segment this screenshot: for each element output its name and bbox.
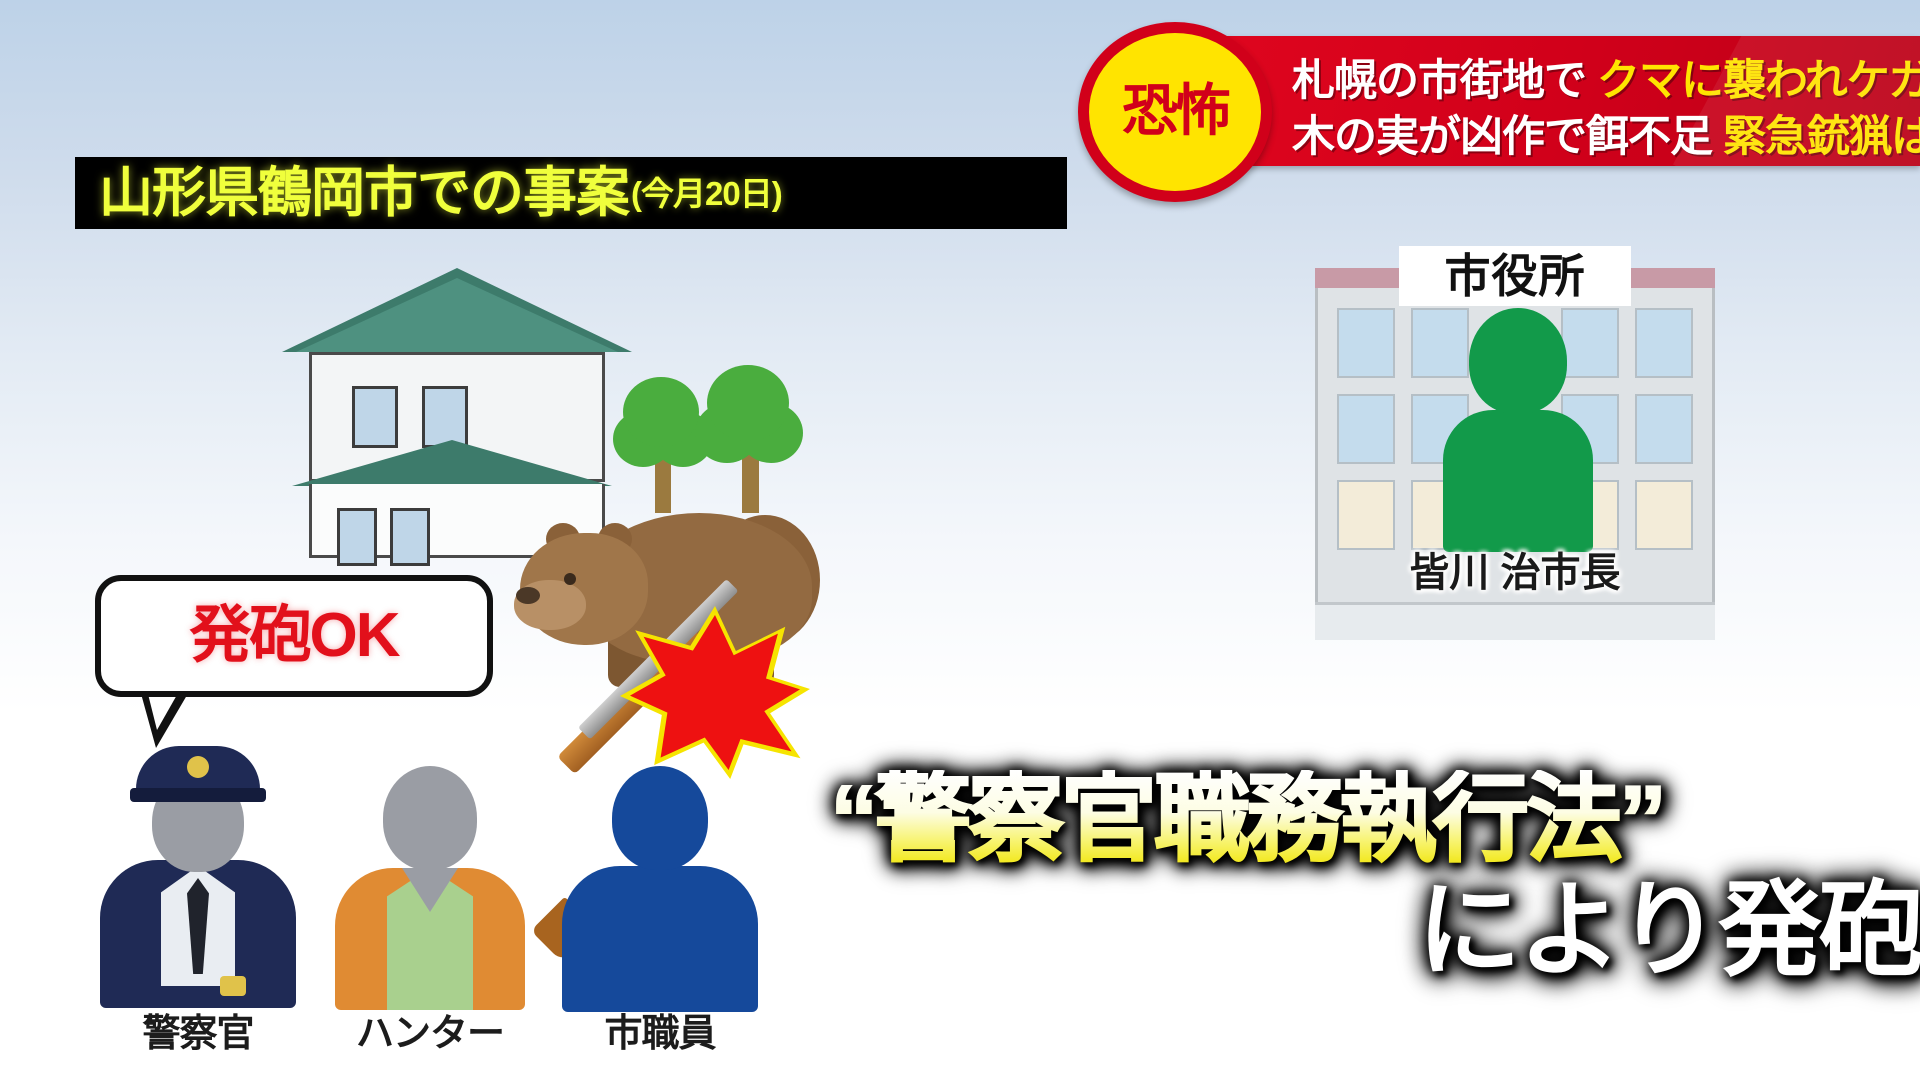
house-door-icon: [337, 508, 377, 566]
police-cap-badge-icon: [187, 756, 209, 778]
city-hall-window-icon: [1635, 480, 1693, 550]
mayor-head-icon: [1469, 308, 1567, 414]
fear-badge: 恐怖: [1078, 22, 1272, 202]
banner-line1-white: 札幌の市街地で: [1292, 57, 1586, 105]
section-title-text: 山形県鶴岡市での事案: [99, 166, 629, 220]
police-chest-badge-icon: [220, 976, 246, 996]
headline-line-1: “警察官職務執行法”: [830, 770, 1920, 871]
city-employee-head-icon: [612, 766, 708, 870]
news-graphic-stage: 札幌の市街地で クマに襲われケガ 木の実が凶作で餌不足 緊急銃猟は 恐怖 山形県…: [0, 0, 1920, 1080]
banner-line1-yellow: クマに襲われケガ: [1597, 57, 1920, 105]
tree-crown-icon: [623, 377, 699, 447]
bear-eye-icon: [564, 573, 576, 585]
section-title-bar: 山形県鶴岡市での事案 (今月20日): [75, 157, 1067, 229]
city-hall-window-icon: [1337, 308, 1395, 378]
bear-nose-icon: [516, 587, 540, 604]
mayor-name-label: 皆川 治市長: [1409, 540, 1620, 598]
house-roof-inner-icon: [296, 278, 618, 352]
house-porch-roof-icon: [292, 440, 612, 486]
main-headline: “警察官職務執行法” により発砲: [830, 770, 1920, 986]
hunter-head-icon: [383, 766, 477, 870]
city-hall-window-icon: [1337, 394, 1395, 464]
headline-line-2: により発砲: [830, 877, 1920, 986]
mayor-figure: [1443, 308, 1593, 566]
tree-crown-icon: [707, 365, 789, 441]
speech-bubble-text: 発砲OK: [189, 605, 398, 667]
label-hunter: ハンター: [356, 1002, 504, 1057]
city-employee-body-icon: [562, 866, 758, 1012]
banner-line-2: 木の実が凶作で餌不足 緊急銃猟は: [1292, 102, 1920, 164]
police-cap-brim-icon: [130, 788, 266, 802]
banner-line2-white: 木の実が凶作で餌不足: [1292, 113, 1712, 161]
speech-bubble: 発砲OK: [95, 575, 493, 697]
city-hall-window-icon: [1635, 308, 1693, 378]
label-police-officer: 警察官: [142, 1002, 253, 1057]
city-hall-base: [1315, 602, 1715, 640]
mayor-body-icon: [1443, 410, 1593, 552]
city-hall-illustration: 市役所 皆川 治市長: [1315, 246, 1715, 640]
fear-badge-label: 恐怖: [1122, 83, 1228, 139]
house-window-icon: [352, 386, 398, 448]
city-hall-window-icon: [1635, 394, 1693, 464]
city-hall-sign-text: 市役所: [1445, 253, 1586, 299]
house-window-icon: [422, 386, 468, 448]
city-hall-window-icon: [1337, 480, 1395, 550]
city-hall-sign: 市役所: [1399, 246, 1631, 306]
label-city-employee: 市職員: [604, 1002, 715, 1057]
banner-line2-yellow: 緊急銃猟は: [1723, 113, 1920, 161]
section-title-date: (今月20日): [631, 177, 782, 210]
house-door-icon: [390, 508, 430, 566]
banner-line-1: 札幌の市街地で クマに襲われケガ: [1292, 46, 1920, 108]
